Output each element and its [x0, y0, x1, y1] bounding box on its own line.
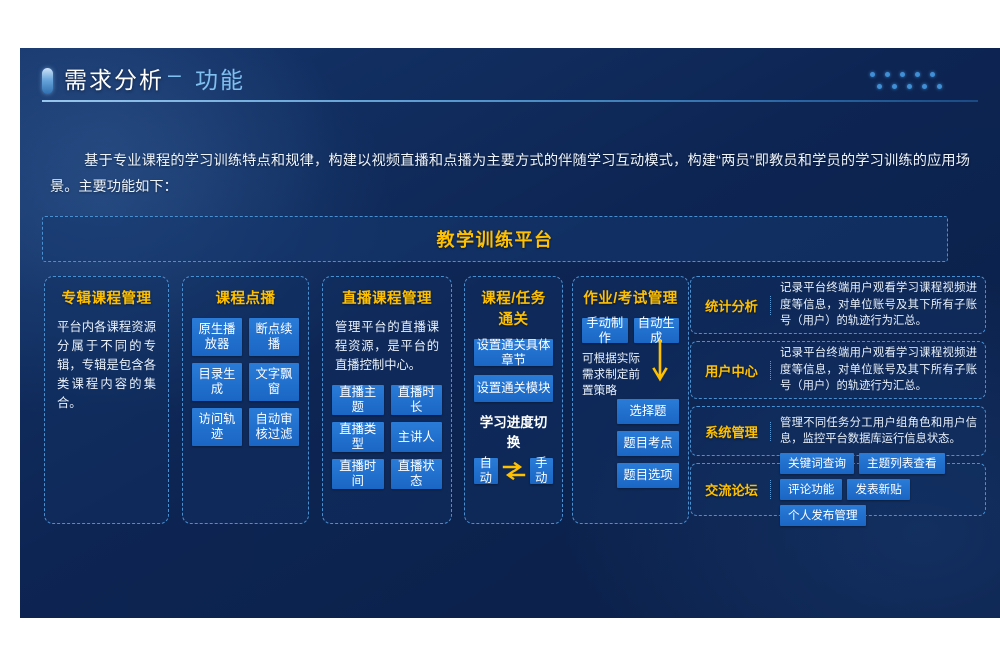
progress-switch-label: 学习进度切换	[474, 411, 553, 451]
row-description: 记录平台终端用户观看学习课程视频进度等信息，对单位账号及其下所有子账号（用户）的…	[771, 280, 977, 330]
feature-button-speaker[interactable]: 主讲人	[391, 422, 443, 452]
forum-button-topic-list[interactable]: 主题列表查看	[859, 453, 945, 474]
feature-button-auto-review-filter[interactable]: 自动审核过滤	[249, 408, 299, 446]
intro-text: 基于专业课程的学习训练特点和规律，构建以视频直播和点播为主要方式的伴随学习互动模…	[50, 153, 970, 195]
row-label: 统计分析	[699, 296, 771, 315]
row-label: 用户中心	[699, 361, 771, 380]
feature-button-live-topic[interactable]: 直播主题	[332, 385, 384, 415]
slide-header: 需求分析 – 功能	[20, 48, 1000, 110]
dot	[900, 72, 905, 77]
forum-button-personal-posts[interactable]: 个人发布管理	[780, 505, 866, 526]
dot	[892, 84, 897, 89]
progress-switch-row: 自动 手动	[474, 458, 553, 484]
feature-row-user-center: 用户中心 记录平台终端用户观看学习课程视频进度等信息，对单位账号及其下所有子账号…	[690, 341, 986, 399]
panel-description: 平台内各课程资源分属于不同的专辑，专辑是包含各类课程内容的集合。	[54, 318, 159, 413]
feature-button-set-clearance-module[interactable]: 设置通关模块	[474, 375, 553, 402]
slide-canvas: 需求分析 – 功能 基于专业课程的学习训练特点和规律，构建以视频直播和点播为主要…	[20, 48, 1000, 618]
feature-button-resume-play[interactable]: 断点续播	[249, 318, 299, 356]
button-grid: 直播主题 直播时长 直播类型 主讲人 直播时间 直播状态	[332, 385, 442, 489]
toggle-button-auto[interactable]: 自动	[474, 458, 498, 484]
panel-title: 直播课程管理	[332, 287, 442, 308]
panel-title: 作业/考试管理	[582, 287, 679, 308]
forum-button-new-post[interactable]: 发表新贴	[847, 479, 909, 500]
toggle-button-manual[interactable]: 手动	[530, 458, 554, 484]
panel-homework-exam-management: 作业/考试管理 手动制作 自动生成 可根据实际需求制定前置策略 选择题 题目考点…	[572, 276, 689, 524]
feature-button-live-status[interactable]: 直播状态	[391, 459, 443, 489]
feature-button-native-player[interactable]: 原生播放器	[192, 318, 242, 356]
panel-title: 专辑课程管理	[54, 287, 159, 308]
dot	[930, 72, 935, 77]
panel-live-course-management: 直播课程管理 管理平台的直播课程资源，是平台的直播控制中心。 直播主题 直播时长…	[322, 276, 452, 524]
feature-row-statistics: 统计分析 记录平台终端用户观看学习课程视频进度等信息，对单位账号及其下所有子账号…	[690, 276, 986, 334]
feature-button-toc-generation[interactable]: 目录生成	[192, 363, 242, 401]
feature-button-manual-creation[interactable]: 手动制作	[582, 318, 628, 343]
panel-course-task-clearance: 课程/任务通关 设置通关具体章节 设置通关模块 学习进度切换 自动 手动	[464, 276, 563, 524]
pill-bullet-icon	[42, 68, 53, 94]
feature-button-access-trace[interactable]: 访问轨迹	[192, 408, 242, 446]
dot	[915, 72, 920, 77]
dot	[907, 84, 912, 89]
right-feature-stack: 统计分析 记录平台终端用户观看学习课程视频进度等信息，对单位账号及其下所有子账号…	[690, 276, 986, 523]
feature-button-question-option[interactable]: 题目选项	[617, 463, 679, 488]
feature-button-set-clearance-chapter[interactable]: 设置通关具体章节	[474, 339, 553, 366]
panel-title: 课程/任务通关	[474, 287, 553, 329]
bidirectional-arrows-icon	[502, 458, 526, 484]
page-title: 需求分析	[64, 61, 164, 95]
dot	[922, 84, 927, 89]
row-label: 交流论坛	[699, 480, 771, 499]
down-arrow-icon	[651, 339, 669, 392]
dot	[937, 84, 942, 89]
forum-button-group: 关键词查询 主题列表查看 评论功能 发表新贴 个人发布管理	[771, 453, 977, 526]
dot	[870, 72, 875, 77]
intro-paragraph: 基于专业课程的学习训练特点和规律，构建以视频直播和点播为主要方式的伴随学习互动模…	[50, 148, 970, 200]
platform-banner: 教学训练平台	[42, 216, 948, 262]
row-label: 系统管理	[699, 422, 771, 441]
feature-row-forum: 交流论坛 关键词查询 主题列表查看 评论功能 发表新贴 个人发布管理	[690, 463, 986, 516]
panel-description: 管理平台的直播课程资源，是平台的直播控制中心。	[332, 318, 442, 375]
diagram-body: 专辑课程管理 平台内各课程资源分属于不同的专辑，专辑是包含各类课程内容的集合。 …	[34, 276, 986, 531]
dot	[885, 72, 890, 77]
forum-button-keyword-search[interactable]: 关键词查询	[780, 453, 854, 474]
feature-button-live-time[interactable]: 直播时间	[332, 459, 384, 489]
panel-course-on-demand: 课程点播 原生播放器 断点续播 目录生成 文字飘窗 访问轨迹 自动审核过滤	[182, 276, 309, 524]
feature-row-system-management: 系统管理 管理不同任务分工用户组角色和用户信息，监控平台数据库运行信息状态。	[690, 406, 986, 456]
panel-title: 课程点播	[192, 287, 299, 308]
feature-button-live-type[interactable]: 直播类型	[332, 422, 384, 452]
row-description: 管理不同任务分工用户组角色和用户信息，监控平台数据库运行信息状态。	[771, 415, 977, 448]
feature-button-text-overlay[interactable]: 文字飘窗	[249, 363, 299, 401]
header-divider	[42, 100, 978, 102]
dot	[877, 84, 882, 89]
title-separator: –	[168, 61, 181, 88]
strategy-note: 可根据实际需求制定前置策略	[582, 351, 646, 399]
platform-title: 教学训练平台	[437, 226, 554, 252]
panel-album-course-management: 专辑课程管理 平台内各课程资源分属于不同的专辑，专辑是包含各类课程内容的集合。	[44, 276, 169, 524]
button-grid: 原生播放器 断点续播 目录生成 文字飘窗 访问轨迹 自动审核过滤	[192, 318, 299, 446]
dot-grid-decoration-icon	[870, 72, 962, 96]
feature-button-live-duration[interactable]: 直播时长	[391, 385, 443, 415]
forum-button-comment[interactable]: 评论功能	[780, 479, 842, 500]
feature-button-question-point[interactable]: 题目考点	[617, 431, 679, 456]
row-description: 记录平台终端用户观看学习课程视频进度等信息，对单位账号及其下所有子账号（用户）的…	[771, 345, 977, 395]
page-subtitle: 功能	[195, 61, 245, 95]
feature-button-multiple-choice[interactable]: 选择题	[617, 399, 679, 424]
